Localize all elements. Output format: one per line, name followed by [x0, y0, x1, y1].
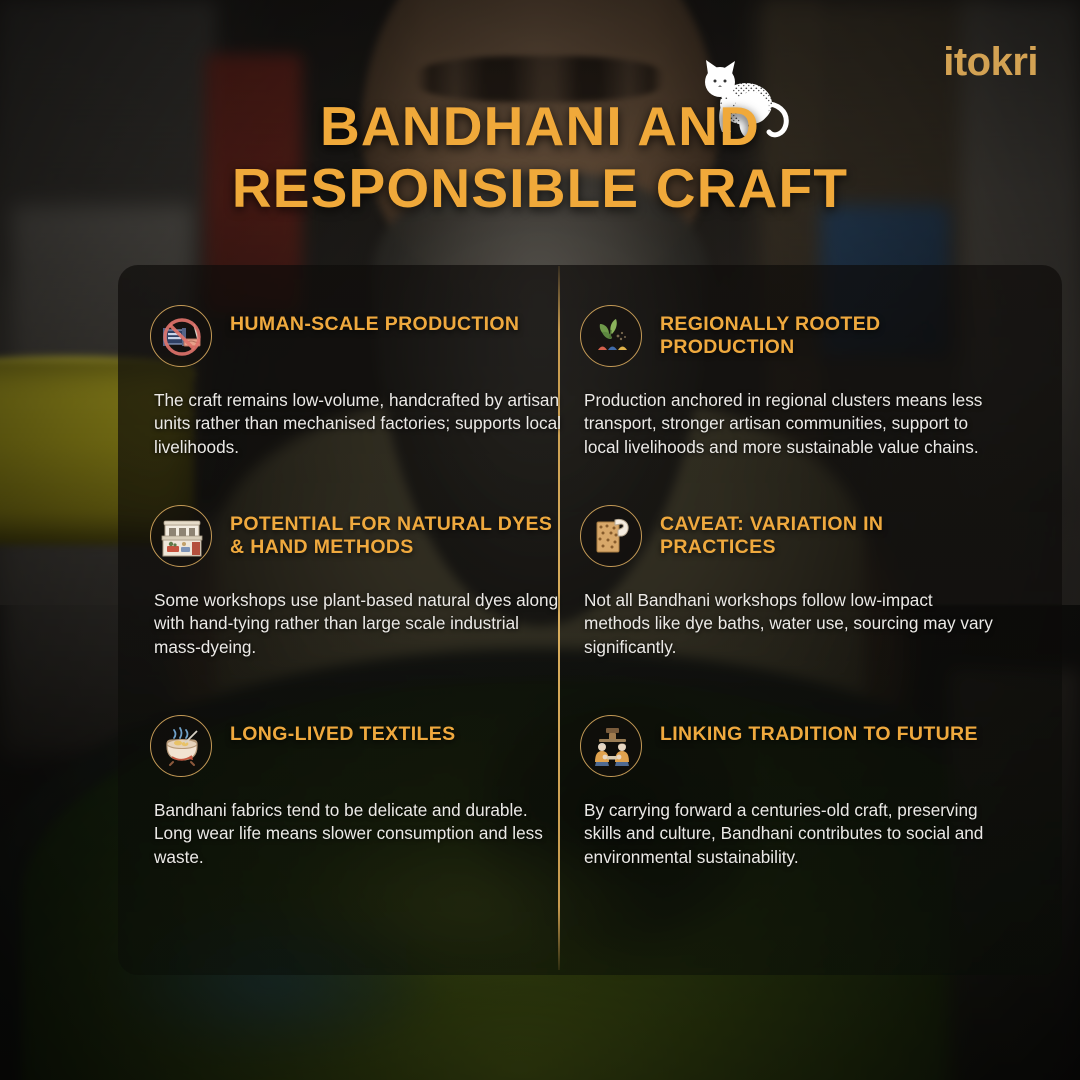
feature-card-long-lived-textiles[interactable]: LONG-LIVED TEXTILES Bandhani fabrics ten… — [150, 715, 570, 869]
card-body: Not all Bandhani workshops follow low-im… — [584, 589, 1000, 659]
card-header: LINKING TRADITION TO FUTURE — [580, 715, 1000, 777]
feature-card-caveat-variation-in-practices[interactable]: CAVEAT: VARIATION IN PRACTICES Not all B… — [580, 505, 1000, 659]
feature-card-linking-tradition-to-future[interactable]: LINKING TRADITION TO FUTURE By carrying … — [580, 715, 1000, 869]
title-line-1: BANDHANI AND — [0, 96, 1080, 158]
card-body: Some workshops use plant-based natural d… — [154, 589, 570, 659]
card-header: LONG-LIVED TEXTILES — [150, 715, 570, 777]
card-body: By carrying forward a centuries-old craf… — [584, 799, 1000, 869]
card-body: The craft remains low-volume, handcrafte… — [154, 389, 570, 459]
card-heading: LONG-LIVED TEXTILES — [230, 715, 456, 746]
card-heading: LINKING TRADITION TO FUTURE — [660, 715, 978, 746]
card-heading: REGIONALLY ROOTED PRODUCTION — [660, 305, 1000, 358]
card-header: POTENTIAL FOR NATURAL DYES & HAND METHOD… — [150, 505, 570, 567]
card-header: CAVEAT: VARIATION IN PRACTICES — [580, 505, 1000, 567]
feature-card-potential-for-natural-dyes[interactable]: POTENTIAL FOR NATURAL DYES & HAND METHOD… — [150, 505, 570, 659]
feature-card-regionally-rooted-production[interactable]: REGIONALLY ROOTED PRODUCTION Production … — [580, 305, 1000, 459]
hand-holding-fabric-icon — [580, 505, 642, 567]
card-header: HUMAN-SCALE PRODUCTION — [150, 305, 570, 367]
steaming-dye-pot-icon — [150, 715, 212, 777]
features-grid: HUMAN-SCALE PRODUCTION The craft remains… — [118, 265, 1062, 975]
card-heading: HUMAN-SCALE PRODUCTION — [230, 305, 519, 336]
feature-card-human-scale-production[interactable]: HUMAN-SCALE PRODUCTION The craft remains… — [150, 305, 570, 459]
two-artisans-icon — [580, 715, 642, 777]
card-header: REGIONALLY ROOTED PRODUCTION — [580, 305, 1000, 367]
page-title: BANDHANI AND RESPONSIBLE CRAFT — [0, 96, 1080, 219]
sprout-and-dye-piles-icon — [580, 305, 642, 367]
card-heading: CAVEAT: VARIATION IN PRACTICES — [660, 505, 1000, 558]
brand-logo[interactable]: itokri — [943, 42, 1038, 82]
card-body: Bandhani fabrics tend to be delicate and… — [154, 799, 570, 869]
card-heading: POTENTIAL FOR NATURAL DYES & HAND METHOD… — [230, 505, 570, 558]
card-body: Production anchored in regional clusters… — [584, 389, 1000, 459]
no-factory-icon — [150, 305, 212, 367]
workshop-building-icon — [150, 505, 212, 567]
title-line-2: RESPONSIBLE CRAFT — [0, 158, 1080, 220]
